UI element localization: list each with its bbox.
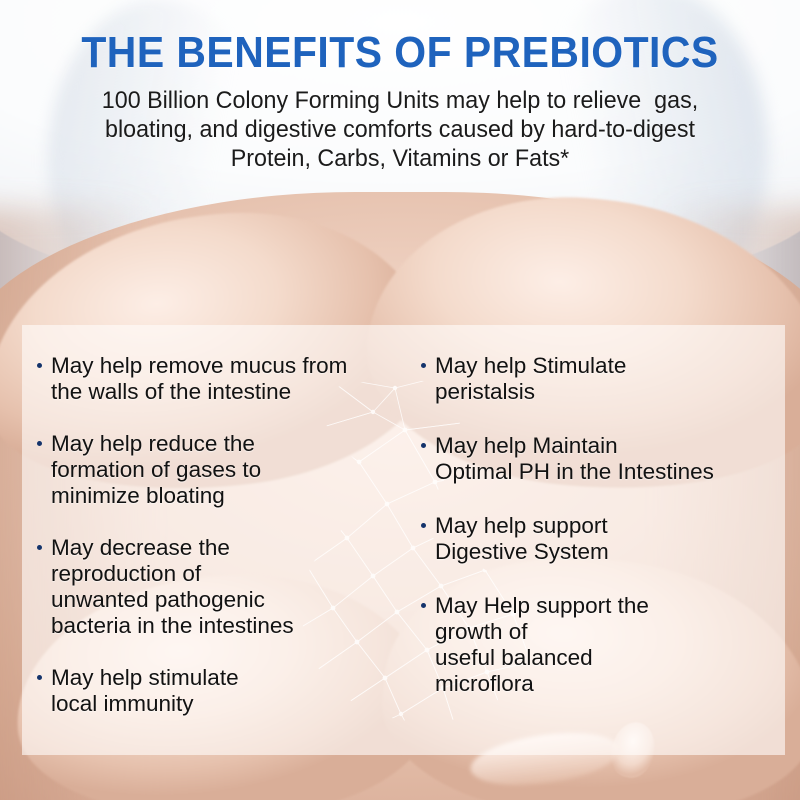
bullet-line: useful balanced	[435, 645, 779, 671]
subtitle-line-2: bloating, and digestive comforts caused …	[58, 115, 742, 144]
benefits-column-right: May help Stimulate peristalsis May help …	[414, 325, 785, 755]
subtitle-line-1: 100 Billion Colony Forming Units may hel…	[58, 86, 742, 115]
bullet-line: May help reduce the	[51, 431, 404, 457]
list-item: May help support Digestive System	[418, 513, 779, 565]
bullet-line: the walls of the intestine	[51, 379, 404, 405]
bullet-line: growth of	[435, 619, 779, 645]
bullet-line: May help stimulate	[51, 665, 404, 691]
list-item: May decrease the reproduction of unwante…	[34, 535, 404, 639]
bullet-line: minimize bloating	[51, 483, 404, 509]
bullet-line: peristalsis	[435, 379, 779, 405]
prebiotics-benefits-infographic: THE BENEFITS OF PREBIOTICS 100 Billion C…	[0, 0, 800, 800]
list-item: May help stimulate local immunity	[34, 665, 404, 717]
bullet-line: reproduction of	[51, 561, 404, 587]
bullet-line: unwanted pathogenic	[51, 587, 404, 613]
list-item: May Help support the growth of useful ba…	[418, 593, 779, 697]
benefits-column-left: May help remove mucus from the walls of …	[22, 325, 414, 755]
benefit-list-right: May help Stimulate peristalsis May help …	[418, 353, 779, 697]
bullet-line: microflora	[435, 671, 779, 697]
bullet-line: formation of gases to	[51, 457, 404, 483]
page-title: THE BENEFITS OF PREBIOTICS	[28, 28, 772, 78]
bullet-line: May help Stimulate	[435, 353, 779, 379]
bullet-line: May help Maintain	[435, 433, 779, 459]
benefit-list-left: May help remove mucus from the walls of …	[34, 353, 404, 717]
bullet-line: May help support	[435, 513, 779, 539]
bullet-line: bacteria in the intestines	[51, 613, 404, 639]
bullet-line: local immunity	[51, 691, 404, 717]
benefits-panel: May help remove mucus from the walls of …	[22, 325, 785, 755]
bullet-line: May decrease the	[51, 535, 404, 561]
bullet-line: Optimal PH in the Intestines	[435, 459, 779, 485]
list-item: May help remove mucus from the walls of …	[34, 353, 404, 405]
list-item: May help reduce the formation of gases t…	[34, 431, 404, 509]
bullet-line: Digestive System	[435, 539, 779, 565]
subtitle-line-3: Protein, Carbs, Vitamins or Fats*	[58, 144, 742, 173]
bullet-line: May Help support the	[435, 593, 779, 619]
list-item: May help Maintain Optimal PH in the Inte…	[418, 433, 779, 485]
bullet-line: May help remove mucus from	[51, 353, 404, 379]
list-item: May help Stimulate peristalsis	[418, 353, 779, 405]
page-subtitle: 100 Billion Colony Forming Units may hel…	[58, 86, 742, 173]
